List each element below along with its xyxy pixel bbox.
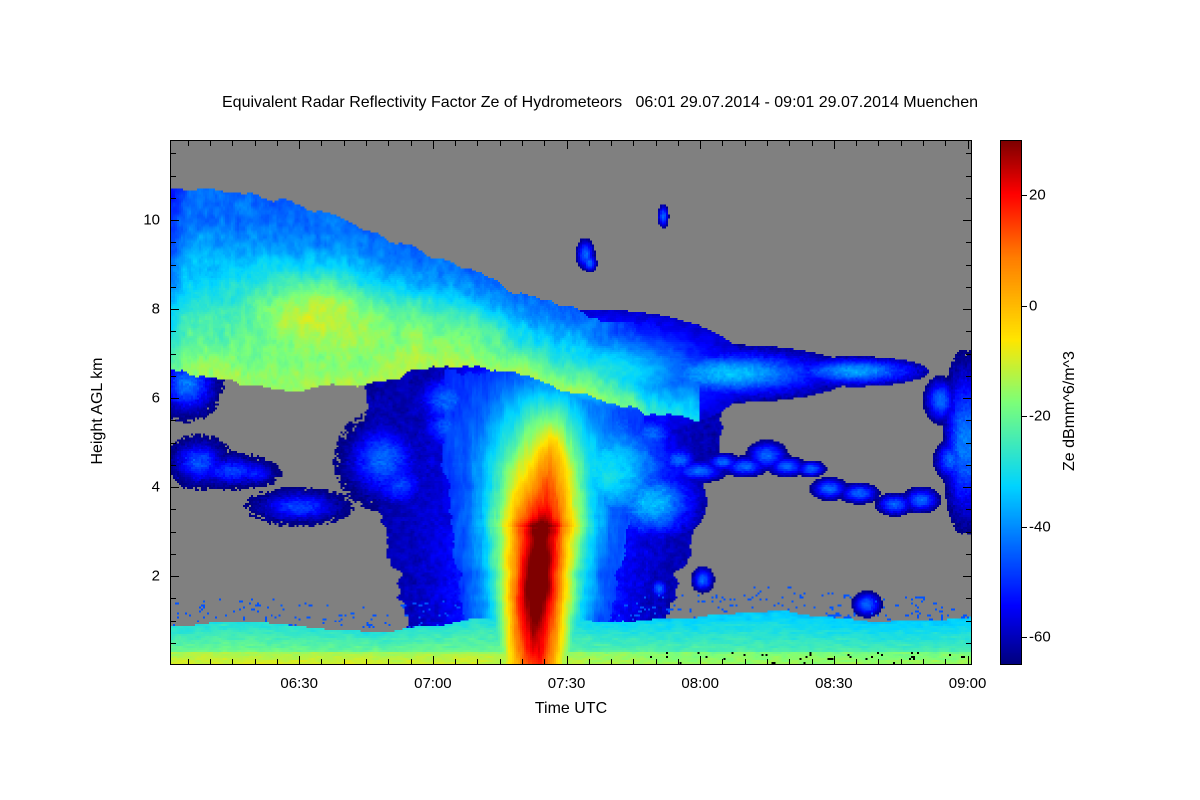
axis-tick bbox=[170, 420, 176, 421]
axis-tick bbox=[789, 140, 790, 146]
axis-tick bbox=[611, 140, 612, 146]
y-tick-label: 6 bbox=[124, 390, 160, 407]
x-tick-label: 08:30 bbox=[815, 675, 853, 692]
axis-tick bbox=[966, 376, 972, 377]
axis-tick bbox=[963, 398, 972, 399]
axis-tick bbox=[232, 659, 233, 665]
colorbar-tick bbox=[1022, 306, 1027, 307]
axis-tick bbox=[232, 140, 233, 146]
axis-tick bbox=[366, 140, 367, 146]
axis-tick bbox=[678, 140, 679, 146]
axis-tick bbox=[923, 140, 924, 146]
axis-tick bbox=[966, 532, 972, 533]
axis-tick bbox=[170, 331, 176, 332]
axis-tick bbox=[834, 140, 835, 149]
radar-figure: Equivalent Radar Reflectivity Factor Ze … bbox=[0, 0, 1200, 800]
axis-tick bbox=[321, 659, 322, 665]
axis-tick bbox=[500, 140, 501, 146]
axis-tick bbox=[299, 656, 300, 665]
plot-area[interactable] bbox=[170, 140, 972, 665]
axis-tick bbox=[388, 140, 389, 146]
axis-tick bbox=[968, 140, 969, 149]
axis-tick bbox=[834, 656, 835, 665]
axis-tick bbox=[901, 140, 902, 146]
axis-tick bbox=[966, 598, 972, 599]
axis-tick bbox=[299, 140, 300, 149]
colorbar-tick-label: 0 bbox=[1029, 297, 1037, 314]
axis-tick bbox=[170, 176, 176, 177]
colorbar-title: Ze dBmm^6/m^3 bbox=[1061, 301, 1079, 521]
axis-tick bbox=[745, 140, 746, 146]
axis-tick bbox=[966, 153, 972, 154]
axis-tick bbox=[966, 621, 972, 622]
axis-tick bbox=[170, 198, 176, 199]
y-tick-label: 10 bbox=[124, 212, 160, 229]
x-tick-label: 09:00 bbox=[949, 675, 987, 692]
axis-tick bbox=[945, 140, 946, 146]
axis-tick bbox=[170, 220, 179, 221]
axis-tick bbox=[170, 354, 176, 355]
colorbar[interactable] bbox=[1000, 140, 1022, 665]
axis-tick bbox=[963, 487, 972, 488]
axis-tick bbox=[477, 140, 478, 146]
axis-tick bbox=[966, 354, 972, 355]
axis-tick bbox=[966, 331, 972, 332]
axis-tick bbox=[500, 659, 501, 665]
axis-tick bbox=[210, 659, 211, 665]
colorbar-tick bbox=[1022, 416, 1027, 417]
axis-tick bbox=[411, 659, 412, 665]
axis-tick bbox=[170, 509, 176, 510]
x-tick-label: 07:30 bbox=[548, 675, 586, 692]
axis-tick bbox=[277, 140, 278, 146]
axis-tick bbox=[966, 287, 972, 288]
axis-tick bbox=[856, 140, 857, 146]
axis-tick bbox=[767, 659, 768, 665]
axis-tick bbox=[170, 532, 176, 533]
axis-tick bbox=[678, 659, 679, 665]
axis-tick bbox=[700, 140, 701, 149]
axis-tick bbox=[544, 659, 545, 665]
axis-tick bbox=[963, 220, 972, 221]
axis-tick bbox=[945, 659, 946, 665]
axis-tick bbox=[170, 398, 179, 399]
y-tick-label: 8 bbox=[124, 301, 160, 318]
axis-tick bbox=[966, 509, 972, 510]
x-tick-label: 07:00 bbox=[414, 675, 452, 692]
axis-tick bbox=[522, 659, 523, 665]
axis-tick bbox=[745, 659, 746, 665]
axis-tick bbox=[963, 309, 972, 310]
axis-tick bbox=[966, 443, 972, 444]
axis-tick bbox=[170, 643, 176, 644]
colorbar-gradient bbox=[1001, 141, 1021, 664]
axis-tick bbox=[255, 140, 256, 146]
axis-tick bbox=[210, 140, 211, 146]
colorbar-tick-label: -40 bbox=[1029, 518, 1051, 535]
axis-tick bbox=[170, 265, 176, 266]
axis-tick bbox=[923, 659, 924, 665]
axis-tick bbox=[767, 140, 768, 146]
axis-tick bbox=[901, 659, 902, 665]
axis-tick bbox=[544, 140, 545, 146]
axis-tick bbox=[611, 659, 612, 665]
x-tick-label: 08:00 bbox=[681, 675, 719, 692]
axis-tick bbox=[170, 465, 176, 466]
colorbar-tick bbox=[1022, 195, 1027, 196]
axis-tick bbox=[722, 140, 723, 146]
colorbar-tick-label: 20 bbox=[1029, 187, 1046, 204]
axis-tick bbox=[589, 140, 590, 146]
axis-tick bbox=[878, 659, 879, 665]
axis-tick bbox=[966, 643, 972, 644]
colorbar-tick bbox=[1022, 637, 1027, 638]
axis-tick bbox=[966, 198, 972, 199]
axis-tick bbox=[344, 140, 345, 146]
colorbar-tick-label: -60 bbox=[1029, 629, 1051, 646]
axis-tick bbox=[170, 287, 176, 288]
axis-tick bbox=[700, 656, 701, 665]
axis-tick bbox=[188, 140, 189, 146]
colorbar-tick-label: -20 bbox=[1029, 408, 1051, 425]
y-axis-title: Height AGL km bbox=[89, 311, 107, 511]
axis-tick bbox=[656, 140, 657, 146]
axis-tick bbox=[433, 140, 434, 149]
axis-tick bbox=[878, 140, 879, 146]
axis-tick bbox=[968, 656, 969, 665]
axis-tick bbox=[277, 659, 278, 665]
axis-tick bbox=[188, 659, 189, 665]
axis-tick bbox=[477, 659, 478, 665]
axis-tick bbox=[170, 153, 176, 154]
axis-tick bbox=[388, 659, 389, 665]
axis-tick bbox=[966, 176, 972, 177]
axis-tick bbox=[411, 140, 412, 146]
axis-tick bbox=[633, 140, 634, 146]
axis-tick bbox=[170, 554, 176, 555]
x-axis-title: Time UTC bbox=[170, 700, 972, 718]
axis-tick bbox=[170, 309, 179, 310]
axis-tick bbox=[722, 659, 723, 665]
axis-tick bbox=[170, 376, 176, 377]
y-tick-label: 4 bbox=[124, 479, 160, 496]
axis-tick bbox=[366, 659, 367, 665]
axis-tick bbox=[966, 265, 972, 266]
radar-reflectivity-heatmap bbox=[171, 141, 971, 664]
colorbar-tick bbox=[1022, 527, 1027, 528]
page-title: Equivalent Radar Reflectivity Factor Ze … bbox=[0, 94, 1200, 112]
axis-tick bbox=[966, 242, 972, 243]
axis-tick bbox=[170, 621, 176, 622]
axis-tick bbox=[433, 656, 434, 665]
axis-tick bbox=[789, 659, 790, 665]
axis-tick bbox=[170, 598, 176, 599]
axis-tick bbox=[966, 465, 972, 466]
axis-tick bbox=[589, 659, 590, 665]
axis-tick bbox=[170, 487, 179, 488]
x-tick-label: 06:30 bbox=[280, 675, 318, 692]
axis-tick bbox=[321, 140, 322, 146]
axis-tick bbox=[812, 659, 813, 665]
axis-tick bbox=[856, 659, 857, 665]
axis-tick bbox=[633, 659, 634, 665]
axis-tick bbox=[455, 659, 456, 665]
axis-tick bbox=[455, 140, 456, 146]
axis-tick bbox=[656, 659, 657, 665]
axis-tick bbox=[170, 576, 179, 577]
axis-tick bbox=[966, 420, 972, 421]
axis-tick bbox=[170, 242, 176, 243]
axis-tick bbox=[966, 554, 972, 555]
axis-tick bbox=[567, 656, 568, 665]
axis-tick bbox=[812, 140, 813, 146]
axis-tick bbox=[522, 140, 523, 146]
axis-tick bbox=[344, 659, 345, 665]
axis-tick bbox=[963, 576, 972, 577]
axis-tick bbox=[255, 659, 256, 665]
axis-tick bbox=[567, 140, 568, 149]
axis-tick bbox=[170, 443, 176, 444]
y-tick-label: 2 bbox=[124, 568, 160, 585]
